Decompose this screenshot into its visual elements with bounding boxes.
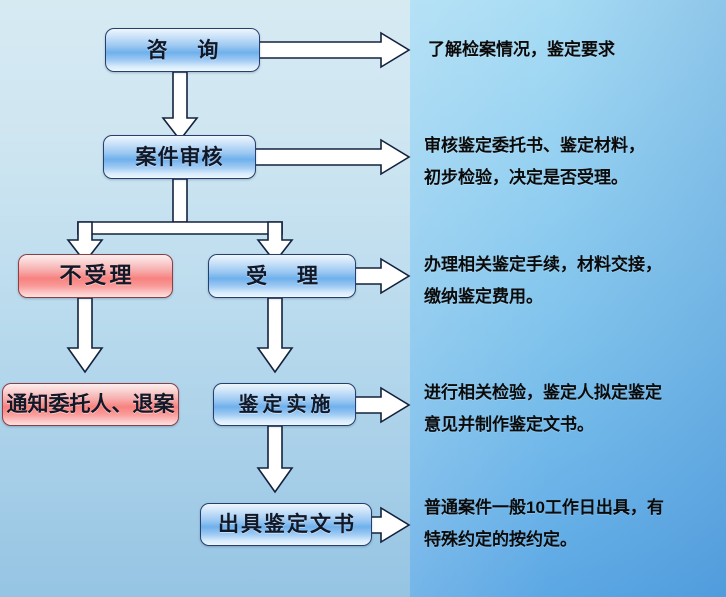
flow-node-review[interactable]: 案件审核 bbox=[103, 135, 256, 179]
note-document-line-2: 特殊约定的按约定。 bbox=[424, 524, 664, 556]
note-consult: 了解检案情况，鉴定要求 bbox=[428, 34, 615, 66]
note-review-line-2: 初步检验，决定是否受理。 bbox=[424, 162, 645, 194]
flow-node-execute-label: 鉴定实施 bbox=[235, 395, 335, 415]
note-execute: 进行相关检验，鉴定人拟定鉴定 意见并制作鉴定文书。 bbox=[424, 377, 662, 441]
note-document: 普通案件一般10工作日出具，有 特殊约定的按约定。 bbox=[424, 492, 664, 556]
flow-node-document[interactable]: 出具鉴定文书 bbox=[200, 503, 372, 546]
flow-node-review-label: 案件审核 bbox=[136, 147, 224, 168]
flow-node-accept[interactable]: 受 理 bbox=[208, 254, 356, 298]
flow-node-reject-label: 不受理 bbox=[56, 265, 134, 287]
flowchart-canvas: 咨 询 案件审核 不受理 受 理 通知委托人、退案 鉴定实施 出具鉴定文书 了解… bbox=[0, 0, 726, 597]
flow-node-document-label: 出具鉴定文书 bbox=[216, 514, 356, 535]
note-accept: 办理相关鉴定手续，材料交接， 缴纳鉴定费用。 bbox=[424, 249, 662, 313]
note-document-line-1: 普通案件一般10工作日出具，有 bbox=[424, 492, 664, 524]
note-execute-line-2: 意见并制作鉴定文书。 bbox=[424, 409, 662, 441]
flow-node-notify[interactable]: 通知委托人、退案 bbox=[2, 383, 179, 426]
flow-node-accept-label: 受 理 bbox=[234, 266, 330, 287]
flow-node-consult[interactable]: 咨 询 bbox=[105, 28, 260, 72]
note-consult-line-1: 了解检案情况，鉴定要求 bbox=[428, 34, 615, 66]
note-accept-line-1: 办理相关鉴定手续，材料交接， bbox=[424, 249, 662, 281]
flow-node-reject[interactable]: 不受理 bbox=[18, 254, 173, 298]
note-review: 审核鉴定委托书、鉴定材料， 初步检验，决定是否受理。 bbox=[424, 130, 645, 194]
flow-node-notify-label: 通知委托人、退案 bbox=[7, 394, 175, 415]
flow-node-consult-label: 咨 询 bbox=[135, 40, 231, 61]
flow-node-execute[interactable]: 鉴定实施 bbox=[213, 383, 356, 426]
note-accept-line-2: 缴纳鉴定费用。 bbox=[424, 281, 662, 313]
note-review-line-1: 审核鉴定委托书、鉴定材料， bbox=[424, 130, 645, 162]
note-execute-line-1: 进行相关检验，鉴定人拟定鉴定 bbox=[424, 377, 662, 409]
